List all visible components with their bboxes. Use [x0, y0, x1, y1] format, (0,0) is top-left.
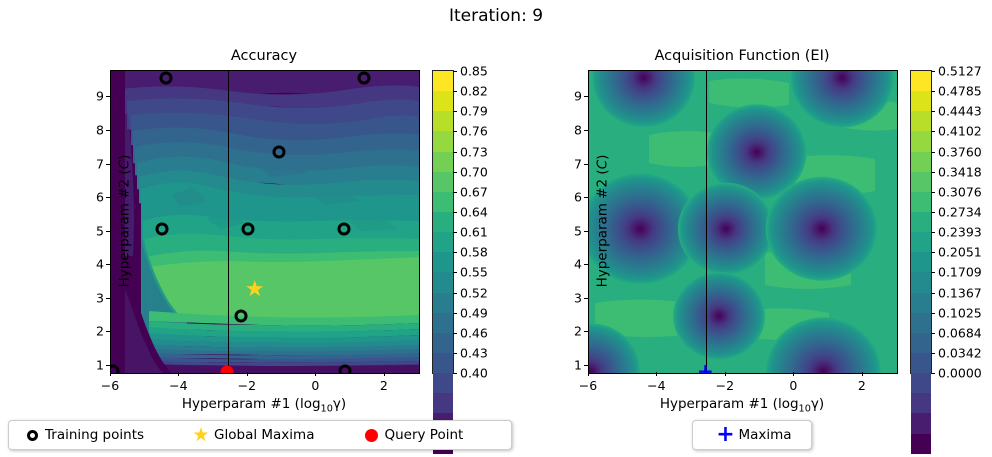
colorbar-tick-label: 0.55 — [460, 265, 488, 280]
accuracy-query-line — [228, 71, 229, 373]
colorbar-band — [911, 413, 931, 433]
xlabel-subscript: 10 — [321, 404, 333, 415]
acquisition-yaxis-label: Hyperparam #2 (C) — [594, 155, 610, 288]
colorbar-tick-mark — [453, 212, 457, 213]
plus-icon: + — [712, 424, 738, 446]
xtick-mark — [178, 372, 179, 376]
xtick-label: −4 — [169, 378, 187, 393]
legend-entry-maxima[interactable]: + Maxima — [712, 424, 791, 446]
figure-canvas: Iteration: 9 Accuracy — [0, 0, 992, 457]
colorbar-tick-label: 0.67 — [460, 184, 488, 199]
accuracy-axes[interactable]: ★ — [110, 70, 420, 374]
xtick-mark — [862, 372, 863, 376]
colorbar-tick-mark — [931, 313, 935, 314]
ytick-mark — [106, 331, 110, 332]
ylabel-suffix: ) — [594, 155, 610, 160]
colorbar-tick-label: 0.0342 — [938, 345, 982, 360]
panel-accuracy: Accuracy — [110, 70, 418, 372]
colorbar-band — [911, 313, 931, 333]
ytick-mark — [106, 298, 110, 299]
colorbar-band — [433, 272, 453, 292]
colorbar-tick-label: 0.3076 — [938, 184, 982, 199]
colorbar-band — [433, 252, 453, 272]
colorbar-band — [433, 71, 453, 91]
ytick-mark — [584, 298, 588, 299]
colorbar-tick-label: 0.1025 — [938, 305, 982, 320]
colorbar-band — [433, 212, 453, 232]
xlabel-subscript: 10 — [799, 404, 811, 415]
ytick-label: 2 — [96, 324, 104, 339]
ytick-label: 3 — [96, 290, 104, 305]
star-icon: ★ — [188, 426, 214, 445]
xtick-mark — [315, 372, 316, 376]
colorbar-band — [433, 393, 453, 413]
colorbar-band — [911, 212, 931, 232]
training-point-marker — [339, 365, 352, 374]
ytick-mark — [584, 331, 588, 332]
ytick-label: 4 — [574, 257, 582, 272]
acquisition-query-line — [706, 71, 707, 373]
xtick-mark — [793, 372, 794, 376]
colorbar-tick-label: 0.2734 — [938, 204, 982, 219]
colorbar-band — [911, 293, 931, 313]
colorbar-tick-label: 0.40 — [460, 366, 488, 381]
training-point-marker — [358, 71, 371, 84]
ytick-mark — [106, 164, 110, 165]
ytick-label: 8 — [96, 123, 104, 138]
ytick-label: 6 — [574, 190, 582, 205]
colorbar-tick-mark — [453, 333, 457, 334]
colorbar-band — [911, 373, 931, 393]
colorbar-band — [911, 232, 931, 252]
global-maxima-marker: ★ — [245, 279, 265, 301]
colorbar-tick-label: 0.3418 — [938, 164, 982, 179]
colorbar-tick-mark — [453, 131, 457, 132]
colorbar-tick-label: 0.46 — [460, 325, 488, 340]
colorbar-tick-label: 0.2051 — [938, 245, 982, 260]
colorbar-tick-mark — [453, 111, 457, 112]
ytick-mark — [584, 164, 588, 165]
colorbar-tick-mark — [453, 272, 457, 273]
colorbar-tick-mark — [453, 71, 457, 72]
ytick-label: 1 — [574, 357, 582, 372]
colorbar-tick-label: 0.85 — [460, 64, 488, 79]
xtick-label: −2 — [716, 378, 734, 393]
training-point-marker — [156, 222, 169, 235]
ytick-mark — [106, 130, 110, 131]
colorbar-tick-mark — [453, 373, 457, 374]
acquisition-xaxis-label: Hyperparam #1 (log10γ) — [588, 396, 896, 415]
xtick-mark — [384, 372, 385, 376]
accuracy-contour-surface — [111, 71, 419, 373]
colorbar-band — [433, 152, 453, 172]
colorbar-band — [911, 353, 931, 373]
colorbar-tick-mark — [931, 232, 935, 233]
ytick-label: 7 — [96, 156, 104, 171]
colorbar-band — [433, 91, 453, 111]
colorbar-tick-label: 0.70 — [460, 164, 488, 179]
xtick-label: −2 — [238, 378, 256, 393]
accuracy-colorbar[interactable]: 0.85 0.82 0.79 0.76 0.73 0.70 0.67 0.64 … — [432, 70, 454, 374]
colorbar-tick-mark — [453, 91, 457, 92]
dot-icon — [358, 429, 384, 442]
colorbar-tick-label: 0.76 — [460, 124, 488, 139]
ytick-mark — [106, 96, 110, 97]
colorbar-tick-label: 0.0000 — [938, 366, 982, 381]
xtick-mark — [656, 372, 657, 376]
colorbar-tick-label: 0.43 — [460, 345, 488, 360]
colorbar-band — [911, 192, 931, 212]
colorbar-tick-label: 0.49 — [460, 305, 488, 320]
xtick-mark — [725, 372, 726, 376]
colorbar-tick-label: 0.61 — [460, 225, 488, 240]
ytick-mark — [106, 197, 110, 198]
accuracy-plot-title: Accuracy — [110, 48, 418, 64]
colorbar-tick-label: 0.1709 — [938, 265, 982, 280]
colorbar-band — [911, 91, 931, 111]
colorbar-tick-mark — [453, 313, 457, 314]
colorbar-tick-mark — [931, 212, 935, 213]
training-point-marker — [159, 71, 172, 84]
ytick-label: 1 — [96, 357, 104, 372]
xlabel-prefix: Hyperparam #1 (log — [660, 396, 799, 412]
accuracy-xaxis-label: Hyperparam #1 (log10γ) — [110, 396, 418, 415]
maxima-marker: + — [697, 361, 714, 374]
ytick-label: 2 — [574, 324, 582, 339]
ytick-mark — [584, 231, 588, 232]
figure-title: Iteration: 9 — [0, 6, 992, 26]
xtick-label: −4 — [647, 378, 665, 393]
colorbar-tick-label: 0.4785 — [938, 84, 982, 99]
colorbar-band — [433, 172, 453, 192]
training-point-marker — [235, 310, 248, 323]
colorbar-tick-mark — [931, 71, 935, 72]
xlabel-prefix: Hyperparam #1 (log — [182, 396, 321, 412]
xtick-mark — [110, 372, 111, 376]
accuracy-legend[interactable]: Training points ★ Global Maxima Query Po… — [8, 420, 512, 450]
acquisition-legend[interactable]: + Maxima — [692, 420, 812, 450]
xtick-label: 0 — [311, 378, 319, 393]
legend-entry-query-point[interactable]: Query Point — [358, 427, 463, 443]
xlabel-suffix: γ) — [811, 396, 824, 412]
colorbar-tick-label: 0.4443 — [938, 104, 982, 119]
colorbar-band — [911, 71, 931, 91]
colorbar-band — [433, 293, 453, 313]
xtick-mark — [588, 372, 589, 376]
colorbar-tick-mark — [453, 293, 457, 294]
acquisition-plot-title: Acquisition Function (EI) — [588, 48, 896, 64]
colorbar-tick-label: 0.58 — [460, 245, 488, 260]
colorbar-band — [433, 192, 453, 212]
ytick-mark — [584, 197, 588, 198]
colorbar-tick-label: 0.5127 — [938, 64, 982, 79]
ytick-label: 9 — [96, 89, 104, 104]
ring-icon — [19, 430, 45, 441]
colorbar-tick-label: 0.79 — [460, 104, 488, 119]
xtick-label: 2 — [858, 378, 866, 393]
ytick-label: 5 — [96, 223, 104, 238]
colorbar-tick-label: 0.4102 — [938, 124, 982, 139]
colorbar-band — [911, 252, 931, 272]
acquisition-axes[interactable]: + — [588, 70, 898, 374]
legend-entry-global-maxima[interactable]: ★ Global Maxima — [188, 426, 314, 445]
ytick-mark — [106, 264, 110, 265]
xtick-mark — [247, 372, 248, 376]
xlabel-suffix: γ) — [333, 396, 346, 412]
colorbar-band — [911, 172, 931, 192]
colorbar-band — [911, 131, 931, 151]
colorbar-tick-mark — [931, 172, 935, 173]
ytick-mark — [584, 130, 588, 131]
colorbar-tick-label: 0.52 — [460, 285, 488, 300]
training-point-marker — [337, 222, 350, 235]
xtick-label: 2 — [380, 378, 388, 393]
colorbar-band — [433, 373, 453, 393]
colorbar-band — [911, 111, 931, 131]
colorbar-band — [433, 353, 453, 373]
ytick-label: 4 — [96, 257, 104, 272]
ylabel-prefix: Hyperparam #2 ( — [594, 169, 610, 287]
ylabel-suffix: ) — [116, 155, 132, 160]
colorbar-tick-mark — [931, 152, 935, 153]
ytick-mark — [584, 365, 588, 366]
ytick-label: 3 — [574, 290, 582, 305]
colorbar-tick-label: 0.0684 — [938, 325, 982, 340]
ytick-label: 8 — [574, 123, 582, 138]
ylabel-italic: C — [594, 160, 610, 169]
colorbar-band — [433, 131, 453, 151]
acquisition-colorbar[interactable]: 0.5127 0.4785 0.4443 0.4102 0.3760 0.341… — [910, 70, 932, 374]
training-point-marker — [241, 222, 254, 235]
legend-label: Training points — [45, 427, 144, 443]
colorbar-tick-mark — [931, 272, 935, 273]
colorbar-tick-label: 0.1367 — [938, 285, 982, 300]
colorbar-tick-mark — [931, 192, 935, 193]
ytick-label: 6 — [96, 190, 104, 205]
xtick-label: −6 — [579, 378, 597, 393]
query-point-marker — [221, 366, 234, 374]
colorbar-tick-mark — [453, 152, 457, 153]
colorbar-band — [911, 152, 931, 172]
ytick-mark — [106, 231, 110, 232]
colorbar-tick-mark — [931, 111, 935, 112]
ytick-mark — [584, 264, 588, 265]
colorbar-tick-mark — [453, 192, 457, 193]
ytick-label: 7 — [574, 156, 582, 171]
colorbar-band — [911, 333, 931, 353]
accuracy-yaxis-label: Hyperparam #2 (C) — [116, 155, 132, 288]
colorbar-tick-label: 0.2393 — [938, 225, 982, 240]
colorbar-tick-mark — [453, 252, 457, 253]
colorbar-tick-label: 0.64 — [460, 204, 488, 219]
legend-label: Global Maxima — [214, 427, 314, 443]
colorbar-band — [433, 313, 453, 333]
colorbar-band — [433, 232, 453, 252]
ytick-label: 9 — [574, 89, 582, 104]
colorbar-tick-label: 0.3760 — [938, 144, 982, 159]
colorbar-tick-mark — [931, 91, 935, 92]
colorbar-band — [911, 434, 931, 454]
colorbar-band — [433, 111, 453, 131]
colorbar-tick-mark — [931, 373, 935, 374]
colorbar-tick-label: 0.73 — [460, 144, 488, 159]
colorbar-tick-mark — [931, 333, 935, 334]
colorbar-tick-mark — [453, 232, 457, 233]
training-point-marker — [272, 146, 285, 159]
colorbar-band — [911, 272, 931, 292]
colorbar-band — [433, 333, 453, 353]
colorbar-tick-mark — [931, 353, 935, 354]
colorbar-tick-mark — [453, 172, 457, 173]
ytick-label: 5 — [574, 223, 582, 238]
legend-label: Maxima — [738, 427, 791, 443]
panel-acquisition: Acquisition Function (EI) — [588, 70, 896, 372]
colorbar-tick-mark — [931, 293, 935, 294]
colorbar-tick-mark — [453, 353, 457, 354]
colorbar-tick-mark — [931, 252, 935, 253]
ytick-mark — [584, 96, 588, 97]
ytick-mark — [106, 365, 110, 366]
xtick-label: −6 — [101, 378, 119, 393]
colorbar-tick-label: 0.82 — [460, 84, 488, 99]
colorbar-tick-mark — [931, 131, 935, 132]
ylabel-italic: C — [116, 160, 132, 169]
ylabel-prefix: Hyperparam #2 ( — [116, 169, 132, 287]
legend-entry-training-points[interactable]: Training points — [19, 427, 144, 443]
xtick-label: 0 — [789, 378, 797, 393]
colorbar-band — [911, 393, 931, 413]
legend-label: Query Point — [384, 427, 463, 443]
acquisition-contour-surface — [589, 71, 897, 373]
